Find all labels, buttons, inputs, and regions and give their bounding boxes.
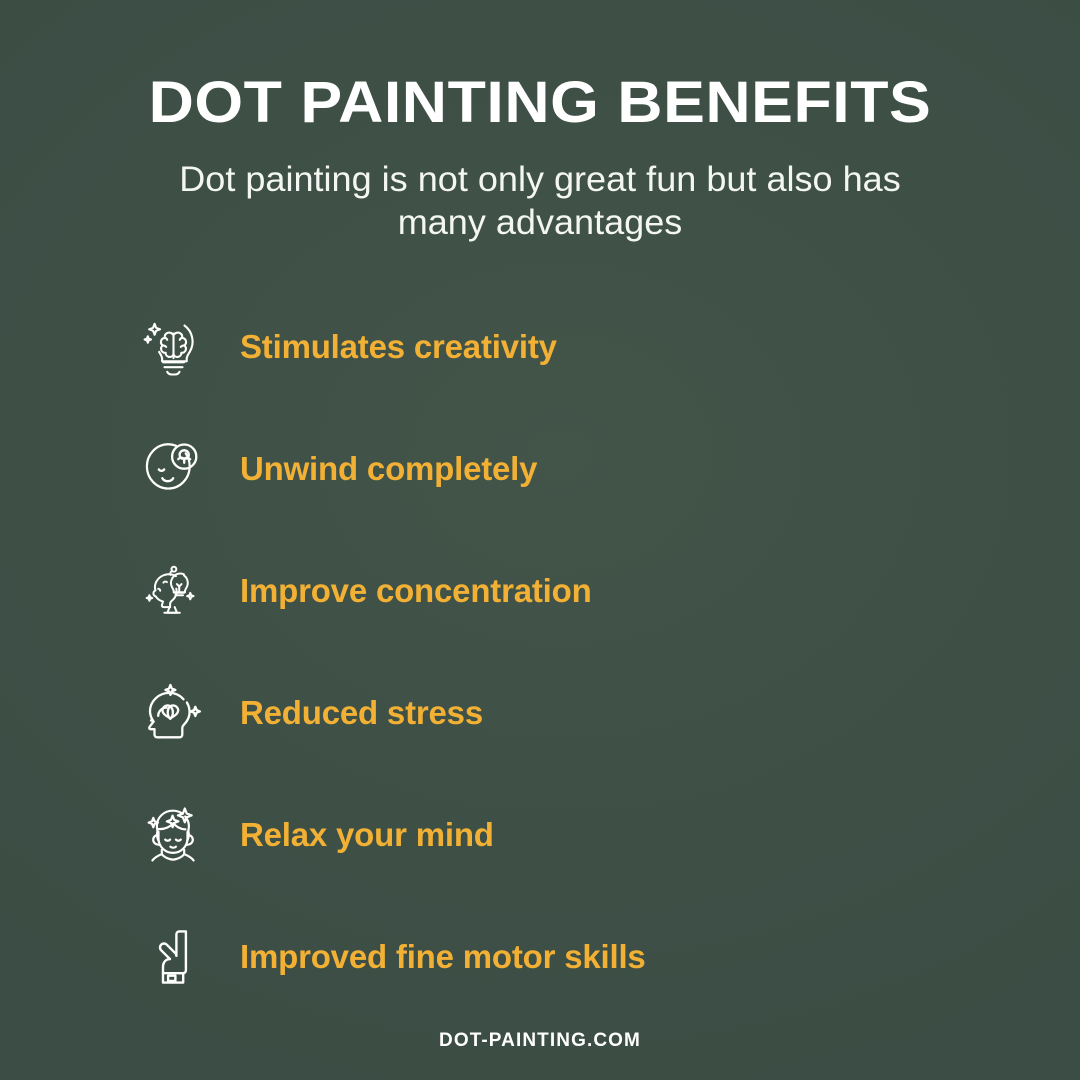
benefit-label: Improved fine motor skills [240,938,646,976]
benefit-item-unwind-completely: Unwind completely [0,408,1080,530]
benefit-item-reduced-stress: Reduced stress [0,652,1080,774]
page-subtitle: Dot painting is not only great fun but a… [138,158,941,244]
smiley-face-flower-icon [139,435,207,503]
head-lotus-sparkle-icon [139,679,207,747]
poster-footer: DOT-PAINTING.COM [0,1030,1080,1052]
poster-header: DOT PAINTING BENEFITS Dot painting is no… [0,0,1080,244]
benefit-item-improved-fine-motor-skills: Improved fine motor skills [0,896,1080,1018]
benefit-label: Relax your mind [240,816,494,854]
lightbulb-brain-sparkle-icon [139,313,207,381]
relaxed-face-stars-icon [139,801,207,869]
benefit-item-stimulates-creativity: Stimulates creativity [0,286,1080,408]
benefit-label: Improve concentration [240,572,592,610]
benefit-label: Unwind completely [240,450,537,488]
benefits-list: Stimulates creativity Unwind completely [0,286,1080,1018]
benefit-label: Reduced stress [240,694,483,732]
website-url: DOT-PAINTING.COM [439,1030,641,1051]
head-profile-lightbulb-icon [139,557,207,625]
poster-canvas: DOT PAINTING BENEFITS Dot painting is no… [0,0,1080,1080]
benefit-label: Stimulates creativity [240,328,557,366]
benefit-item-relax-your-mind: Relax your mind [0,774,1080,896]
page-title: DOT PAINTING BENEFITS [0,70,1080,136]
hand-pinching-dot-icon [139,923,207,991]
benefit-item-improve-concentration: Improve concentration [0,530,1080,652]
